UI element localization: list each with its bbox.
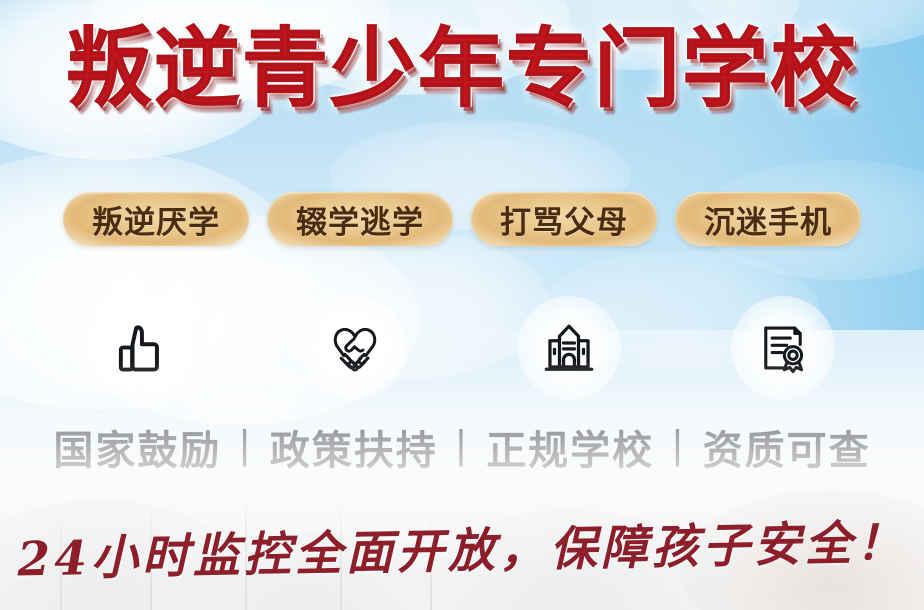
- feature-label: 资质可查: [703, 418, 871, 476]
- feature-separator: |: [456, 423, 468, 468]
- thumbs-up-icon: [111, 318, 171, 378]
- feature-icon-badge: [517, 296, 621, 400]
- issue-tag[interactable]: 打骂父母: [471, 192, 657, 246]
- school-building-icon: [540, 319, 598, 377]
- issue-tag[interactable]: 沉迷手机: [675, 192, 861, 246]
- feature-text-list: 国家鼓励 | 政策扶持 | 正规学校 | 资质可查: [0, 418, 924, 476]
- feature-label: 正规学校: [486, 418, 654, 476]
- feature-icon-badge: [731, 296, 835, 400]
- issue-tag[interactable]: 辍学逃学: [267, 192, 453, 246]
- feature-separator: |: [239, 423, 251, 468]
- feature-icon-badge: [89, 296, 193, 400]
- page-title: 叛逆青少年专门学校: [0, 18, 924, 119]
- feature-icon-badge: [303, 296, 407, 400]
- feature-label: 国家鼓励: [53, 418, 221, 476]
- certificate-seal-icon: [754, 319, 812, 377]
- feature-separator: |: [672, 423, 684, 468]
- feature-icon-list: [0, 296, 924, 400]
- slogan-text: 24小时监控全面开放，保障孩子安全！: [0, 503, 924, 590]
- issue-tag[interactable]: 叛逆厌学: [63, 192, 249, 246]
- handshake-heart-icon: [324, 317, 386, 379]
- poster-banner: 叛逆青少年专门学校 叛逆厌学 辍学逃学 打骂父母 沉迷手机: [0, 0, 924, 610]
- feature-label: 政策扶持: [270, 418, 438, 476]
- issue-tag-list: 叛逆厌学 辍学逃学 打骂父母 沉迷手机: [0, 192, 924, 246]
